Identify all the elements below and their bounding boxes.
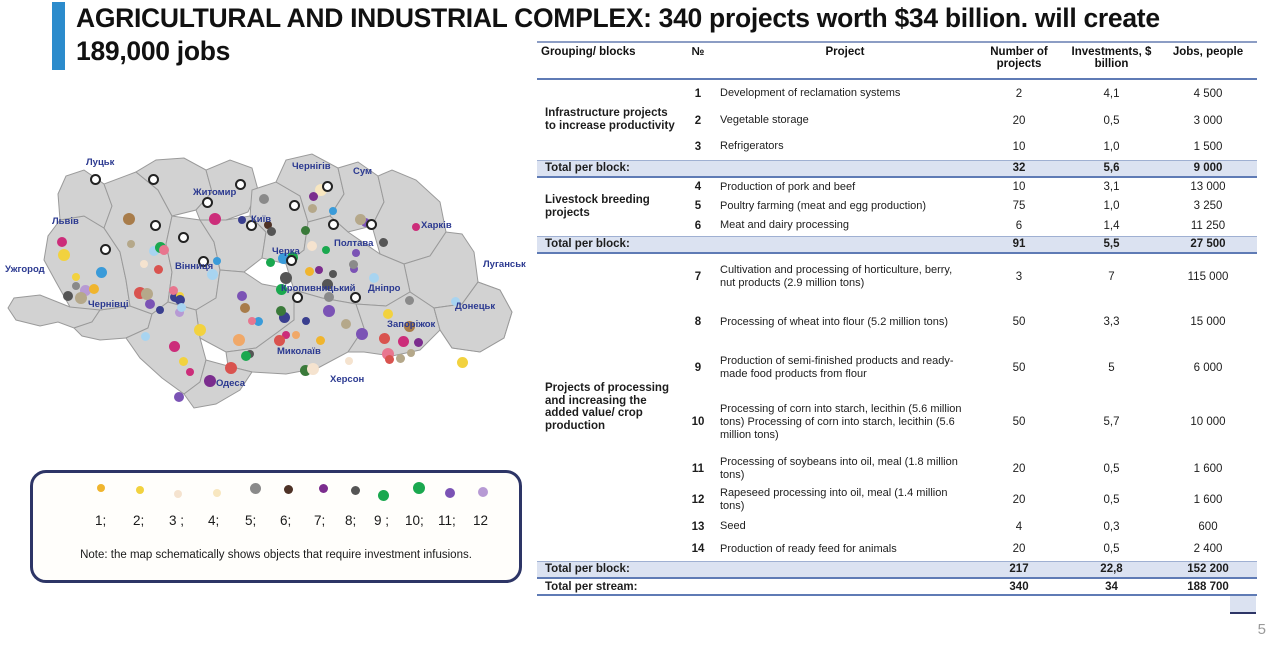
table-header-row: Grouping/ blocks № Project Number of pro… <box>537 42 1257 79</box>
legend-label-4: 4; <box>208 513 219 528</box>
map-city-marker <box>246 220 257 231</box>
table-cell-jobs: 13 000 <box>1159 177 1257 196</box>
total-per-block-jobs: 9 000 <box>1159 160 1257 177</box>
map-dot <box>248 317 256 325</box>
map-city-marker <box>322 181 333 192</box>
map-dot <box>145 299 155 309</box>
legend-dot-1 <box>97 484 105 492</box>
table-cell-investments: 3,3 <box>1064 299 1159 345</box>
map-dot <box>352 249 360 257</box>
table-row: Infrastructure projects to increase prod… <box>537 79 1257 107</box>
legend-dot-2 <box>136 486 144 494</box>
map-dot <box>238 216 246 224</box>
table-cell-projects: 50 <box>974 391 1064 453</box>
map-dot <box>404 321 415 332</box>
table-cell-no: 12 <box>680 484 716 515</box>
total-per-block-investments: 5,6 <box>1064 160 1159 177</box>
table-cell-jobs: 3 250 <box>1159 196 1257 216</box>
table-cell-projects: 6 <box>974 216 1064 236</box>
map-city-marker <box>292 292 303 303</box>
table-cell-project: Poultry farming (meat and egg production… <box>716 196 974 216</box>
map-dot <box>280 272 292 284</box>
table-cell-no: 7 <box>680 253 716 299</box>
table-cell-projects: 20 <box>974 453 1064 484</box>
table-cell-project: Meat and dairy processing <box>716 216 974 236</box>
map-dot <box>89 284 99 294</box>
map-dot <box>209 213 221 225</box>
table-cell-no: 13 <box>680 515 716 538</box>
table-total-per-block-row: Total per block:915,527 500 <box>537 236 1257 253</box>
map-dot <box>451 297 460 306</box>
table-cell-jobs: 2 400 <box>1159 538 1257 561</box>
legend-label-9: 9 ; <box>374 513 389 528</box>
map-dot <box>405 296 414 305</box>
legend-dot-10 <box>413 482 425 494</box>
col-header-project: Project <box>716 42 974 79</box>
legend-label-2: 2; <box>133 513 144 528</box>
legend-dot-12 <box>478 487 488 497</box>
legend-dot-row <box>33 481 519 507</box>
map-city-marker <box>90 174 101 185</box>
map-dot <box>383 309 393 319</box>
total-per-block-jobs: 152 200 <box>1159 561 1257 578</box>
table-cell-projects: 2 <box>974 79 1064 107</box>
table-group-label: Projects of processing and increasing th… <box>537 253 680 561</box>
map-svg <box>0 132 538 410</box>
total-per-stream-jobs: 188 700 <box>1159 578 1257 595</box>
map-dot <box>154 265 163 274</box>
table-cell-no: 6 <box>680 216 716 236</box>
map-dot <box>141 332 150 341</box>
map-dot <box>177 303 186 312</box>
map-dot <box>396 354 405 363</box>
map-dot <box>159 245 169 255</box>
table-cell-investments: 0,5 <box>1064 484 1159 515</box>
table-cell-project: Rapeseed processing into oil, meal (1.4 … <box>716 484 974 515</box>
map-dot <box>407 349 415 357</box>
table-cell-investments: 0,5 <box>1064 107 1159 134</box>
legend-label-8: 8; <box>345 513 356 528</box>
table-cell-project: Refrigerators <box>716 134 974 160</box>
table-cell-project: Processing of soybeans into oil, meal (1… <box>716 453 974 484</box>
map-dot <box>72 273 80 281</box>
legend-label-3: 3 ; <box>169 513 184 528</box>
legend-dot-5 <box>250 483 261 494</box>
legend-dot-7 <box>319 484 328 493</box>
map-city-marker <box>328 219 339 230</box>
table-cell-no: 4 <box>680 177 716 196</box>
map-dot <box>398 336 409 347</box>
table-cell-project: Seed <box>716 515 974 538</box>
table-cell-jobs: 600 <box>1159 515 1257 538</box>
table-total-per-stream-row: Total per stream:34034188 700 <box>537 578 1257 595</box>
map-dot <box>324 292 334 302</box>
legend-label-12: 12 <box>473 513 488 528</box>
map-city-marker <box>198 256 209 267</box>
table-cell-investments: 0,3 <box>1064 515 1159 538</box>
table-cell-projects: 75 <box>974 196 1064 216</box>
table-cell-jobs: 15 000 <box>1159 299 1257 345</box>
map-dot <box>276 306 286 316</box>
table-cell-projects: 50 <box>974 345 1064 391</box>
map-dot <box>123 213 135 225</box>
table-cell-no: 9 <box>680 345 716 391</box>
map-city-marker <box>350 292 361 303</box>
table-group-label: Livestock breeding projects <box>537 177 680 236</box>
map-city-marker <box>148 174 159 185</box>
total-per-block-projects: 32 <box>974 160 1064 177</box>
table-cell-jobs: 4 500 <box>1159 79 1257 107</box>
map-city-marker <box>178 232 189 243</box>
map-city-marker <box>150 220 161 231</box>
map-city-marker <box>366 219 377 230</box>
legend-dot-3 <box>174 490 182 498</box>
table-cell-investments: 3,1 <box>1064 177 1159 196</box>
table-cell-projects: 10 <box>974 134 1064 160</box>
table-cell-no: 5 <box>680 196 716 216</box>
map-dot <box>233 334 245 346</box>
table-cell-projects: 20 <box>974 484 1064 515</box>
projects-table: Grouping/ blocks № Project Number of pro… <box>537 41 1257 596</box>
map-dot <box>213 257 221 265</box>
table-cell-jobs: 1 600 <box>1159 484 1257 515</box>
table-cell-no: 11 <box>680 453 716 484</box>
legend-label-6: 6; <box>280 513 291 528</box>
table-cell-investments: 0,5 <box>1064 453 1159 484</box>
map-dot <box>379 333 390 344</box>
map-dot <box>276 284 287 295</box>
table-head: Grouping/ blocks № Project Number of pro… <box>537 42 1257 79</box>
map-dot <box>225 362 237 374</box>
table-cell-jobs: 11 250 <box>1159 216 1257 236</box>
map-dot <box>341 319 351 329</box>
map-city-marker <box>202 197 213 208</box>
total-per-block-label: Total per block: <box>537 561 974 578</box>
legend-label-1: 1; <box>95 513 106 528</box>
map-dot <box>57 237 67 247</box>
table-group-label: Infrastructure projects to increase prod… <box>537 79 680 160</box>
table-cell-projects: 3 <box>974 253 1064 299</box>
legend-dot-11 <box>445 488 455 498</box>
table-cell-investments: 0,5 <box>1064 538 1159 561</box>
legend-label-5: 5; <box>245 513 256 528</box>
map-dot <box>58 249 70 261</box>
map-dot <box>127 240 135 248</box>
total-per-block-projects: 217 <box>974 561 1064 578</box>
map-dot <box>169 286 178 295</box>
col-header-no: № <box>680 42 716 79</box>
map-dot <box>349 260 358 269</box>
legend-dot-6 <box>284 485 293 494</box>
map-dot <box>307 363 319 375</box>
table-cell-project: Production of pork and beef <box>716 177 974 196</box>
table-cell-jobs: 3 000 <box>1159 107 1257 134</box>
total-per-block-label: Total per block: <box>537 160 974 177</box>
map-dot <box>329 207 337 215</box>
title-accent-bar <box>52 2 65 70</box>
total-per-stream-label: Total per stream: <box>537 578 974 595</box>
map-dot <box>179 357 188 366</box>
map-dot <box>292 331 300 339</box>
table-cell-projects: 20 <box>974 107 1064 134</box>
table-cell-jobs: 1 600 <box>1159 453 1257 484</box>
ukraine-map[interactable]: ЛуцькЧернігівСумЖитомирЛьвівКиївХарківПо… <box>0 132 538 410</box>
table-row: Livestock breeding projects4Production o… <box>537 177 1257 196</box>
map-city-marker <box>100 244 111 255</box>
map-dot <box>307 241 317 251</box>
legend-label-11: 11; <box>438 513 456 528</box>
legend-dot-9 <box>378 490 389 501</box>
map-city-marker <box>289 200 300 211</box>
total-per-block-jobs: 27 500 <box>1159 236 1257 253</box>
total-per-stream-investments: 34 <box>1064 578 1159 595</box>
table-cell-projects: 50 <box>974 299 1064 345</box>
map-dot <box>356 328 368 340</box>
map-dot <box>174 392 184 402</box>
legend-note: Note: the map schematically shows object… <box>33 549 519 561</box>
total-per-block-label: Total per block: <box>537 236 974 253</box>
legend-dot-4 <box>213 489 221 497</box>
legend-label-7: 7; <box>314 513 325 528</box>
col-header-grouping-label: Grouping/ blocks <box>541 46 636 58</box>
table-cell-project: Processing of corn into starch, lecithin… <box>716 391 974 453</box>
map-dot <box>207 269 218 280</box>
total-per-stream-projects: 340 <box>974 578 1064 595</box>
page-decoration <box>1230 596 1256 614</box>
table-cell-investments: 5 <box>1064 345 1159 391</box>
table-cell-jobs: 1 500 <box>1159 134 1257 160</box>
table-cell-investments: 1,0 <box>1064 134 1159 160</box>
table-cell-projects: 4 <box>974 515 1064 538</box>
table-cell-investments: 1,0 <box>1064 196 1159 216</box>
table-cell-investments: 7 <box>1064 253 1159 299</box>
map-city-marker <box>286 255 297 266</box>
table-cell-project: Development of reclamation systems <box>716 79 974 107</box>
legend-dot-8 <box>351 486 360 495</box>
total-per-block-investments: 5,5 <box>1064 236 1159 253</box>
slide-canvas: AGRICULTURAL AND INDUSTRIAL COMPLEX: 340… <box>0 0 1280 646</box>
table-cell-no: 3 <box>680 134 716 160</box>
table-cell-jobs: 10 000 <box>1159 391 1257 453</box>
col-header-number-of-projects: Number of projects <box>974 42 1064 79</box>
map-dot <box>355 214 366 225</box>
table-row: Projects of processing and increasing th… <box>537 253 1257 299</box>
table-cell-jobs: 115 000 <box>1159 253 1257 299</box>
table-cell-project: Cultivation and processing of horticultu… <box>716 253 974 299</box>
col-header-jobs: Jobs, people <box>1159 42 1257 79</box>
map-dot <box>140 260 148 268</box>
map-dot <box>412 223 420 231</box>
map-dot <box>194 324 206 336</box>
legend-label-10: 10; <box>405 513 424 528</box>
map-dot <box>240 303 250 313</box>
table-cell-no: 10 <box>680 391 716 453</box>
map-dot <box>96 267 107 278</box>
total-per-block-investments: 22,8 <box>1064 561 1159 578</box>
table-cell-project: Vegetable storage <box>716 107 974 134</box>
table-cell-investments: 1,4 <box>1064 216 1159 236</box>
table-cell-project: Production of ready feed for animals <box>716 538 974 561</box>
map-legend: 1;2;3 ;4;5;6;7;8;9 ;10;11;12 Note: the m… <box>30 470 522 583</box>
table-cell-no: 2 <box>680 107 716 134</box>
table-cell-jobs: 6 000 <box>1159 345 1257 391</box>
map-dot <box>301 226 310 235</box>
table-cell-investments: 4,1 <box>1064 79 1159 107</box>
projects-table-wrapper: Grouping/ blocks № Project Number of pro… <box>537 41 1257 596</box>
table-cell-projects: 10 <box>974 177 1064 196</box>
map-dot <box>323 305 335 317</box>
table-cell-projects: 20 <box>974 538 1064 561</box>
map-dot <box>186 368 194 376</box>
table-cell-project: Production of semi-finished products and… <box>716 345 974 391</box>
map-dot <box>309 192 318 201</box>
table-cell-project: Processing of wheat into flour (5.2 mill… <box>716 299 974 345</box>
table-total-per-block-row: Total per block:325,69 000 <box>537 160 1257 177</box>
table-body: Infrastructure projects to increase prod… <box>537 79 1257 595</box>
map-dot <box>302 317 310 325</box>
col-header-investments: Investments, $ billion <box>1064 42 1159 79</box>
total-per-block-projects: 91 <box>974 236 1064 253</box>
page-number: 5 <box>1258 621 1266 638</box>
map-city-marker <box>235 179 246 190</box>
table-cell-investments: 5,7 <box>1064 391 1159 453</box>
map-dot <box>63 291 73 301</box>
table-cell-no: 8 <box>680 299 716 345</box>
col-header-grouping: Grouping/ blocks <box>537 42 680 79</box>
legend-number-row: 1;2;3 ;4;5;6;7;8;9 ;10;11;12 <box>33 513 519 531</box>
table-total-per-block-row: Total per block:21722,8152 200 <box>537 561 1257 578</box>
map-dot <box>414 338 423 347</box>
table-cell-no: 14 <box>680 538 716 561</box>
map-dot <box>369 273 379 283</box>
table-cell-no: 1 <box>680 79 716 107</box>
